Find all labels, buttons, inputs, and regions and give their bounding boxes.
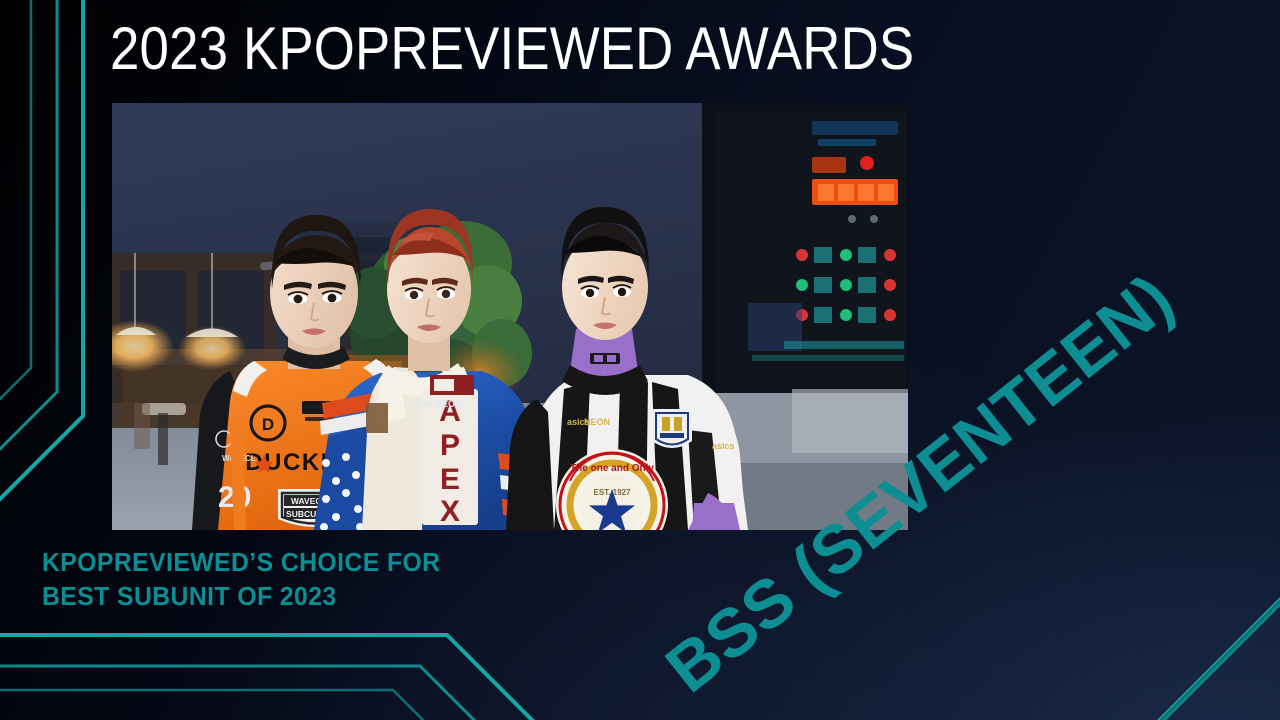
decor-line-1	[0, 0, 31, 720]
svg-text:NEON: NEON	[584, 417, 610, 427]
svg-text:E: E	[440, 463, 460, 496]
svg-text:asics: asics	[712, 441, 735, 451]
subtitle-line-1: KPOPREVIEWED’S CHOICE FOR	[42, 547, 585, 581]
svg-text:EST. 1927: EST. 1927	[594, 488, 631, 497]
subtitle-line-2: BEST SUBUNIT OF 2023	[42, 581, 585, 615]
award-category-subtitle: KPOPREVIEWED’S CHOICE FOR BEST SUBUNIT O…	[42, 547, 585, 615]
awards-slide: D DUCKDIVE WAVECLUB SUBCULTURE WAVE	[0, 0, 1280, 720]
decor-line-4	[0, 635, 760, 720]
decor-line-8	[973, 411, 1280, 720]
decor-line-5	[0, 666, 733, 720]
award-photo: D DUCKDIVE WAVECLUB SUBCULTURE WAVE	[112, 103, 908, 530]
decor-line-9	[946, 435, 1280, 720]
svg-text:NEW NEON: NEW NEON	[412, 399, 462, 409]
svg-text:X: X	[440, 495, 460, 528]
decor-line-7	[1000, 380, 1280, 720]
decor-line-6	[0, 690, 706, 720]
svg-text:The one and Only: The one and Only	[570, 463, 654, 474]
svg-text:D: D	[262, 415, 274, 434]
svg-text:P: P	[440, 429, 460, 462]
page-title: 2023 KPOPREVIEWED AWARDS	[110, 15, 914, 82]
